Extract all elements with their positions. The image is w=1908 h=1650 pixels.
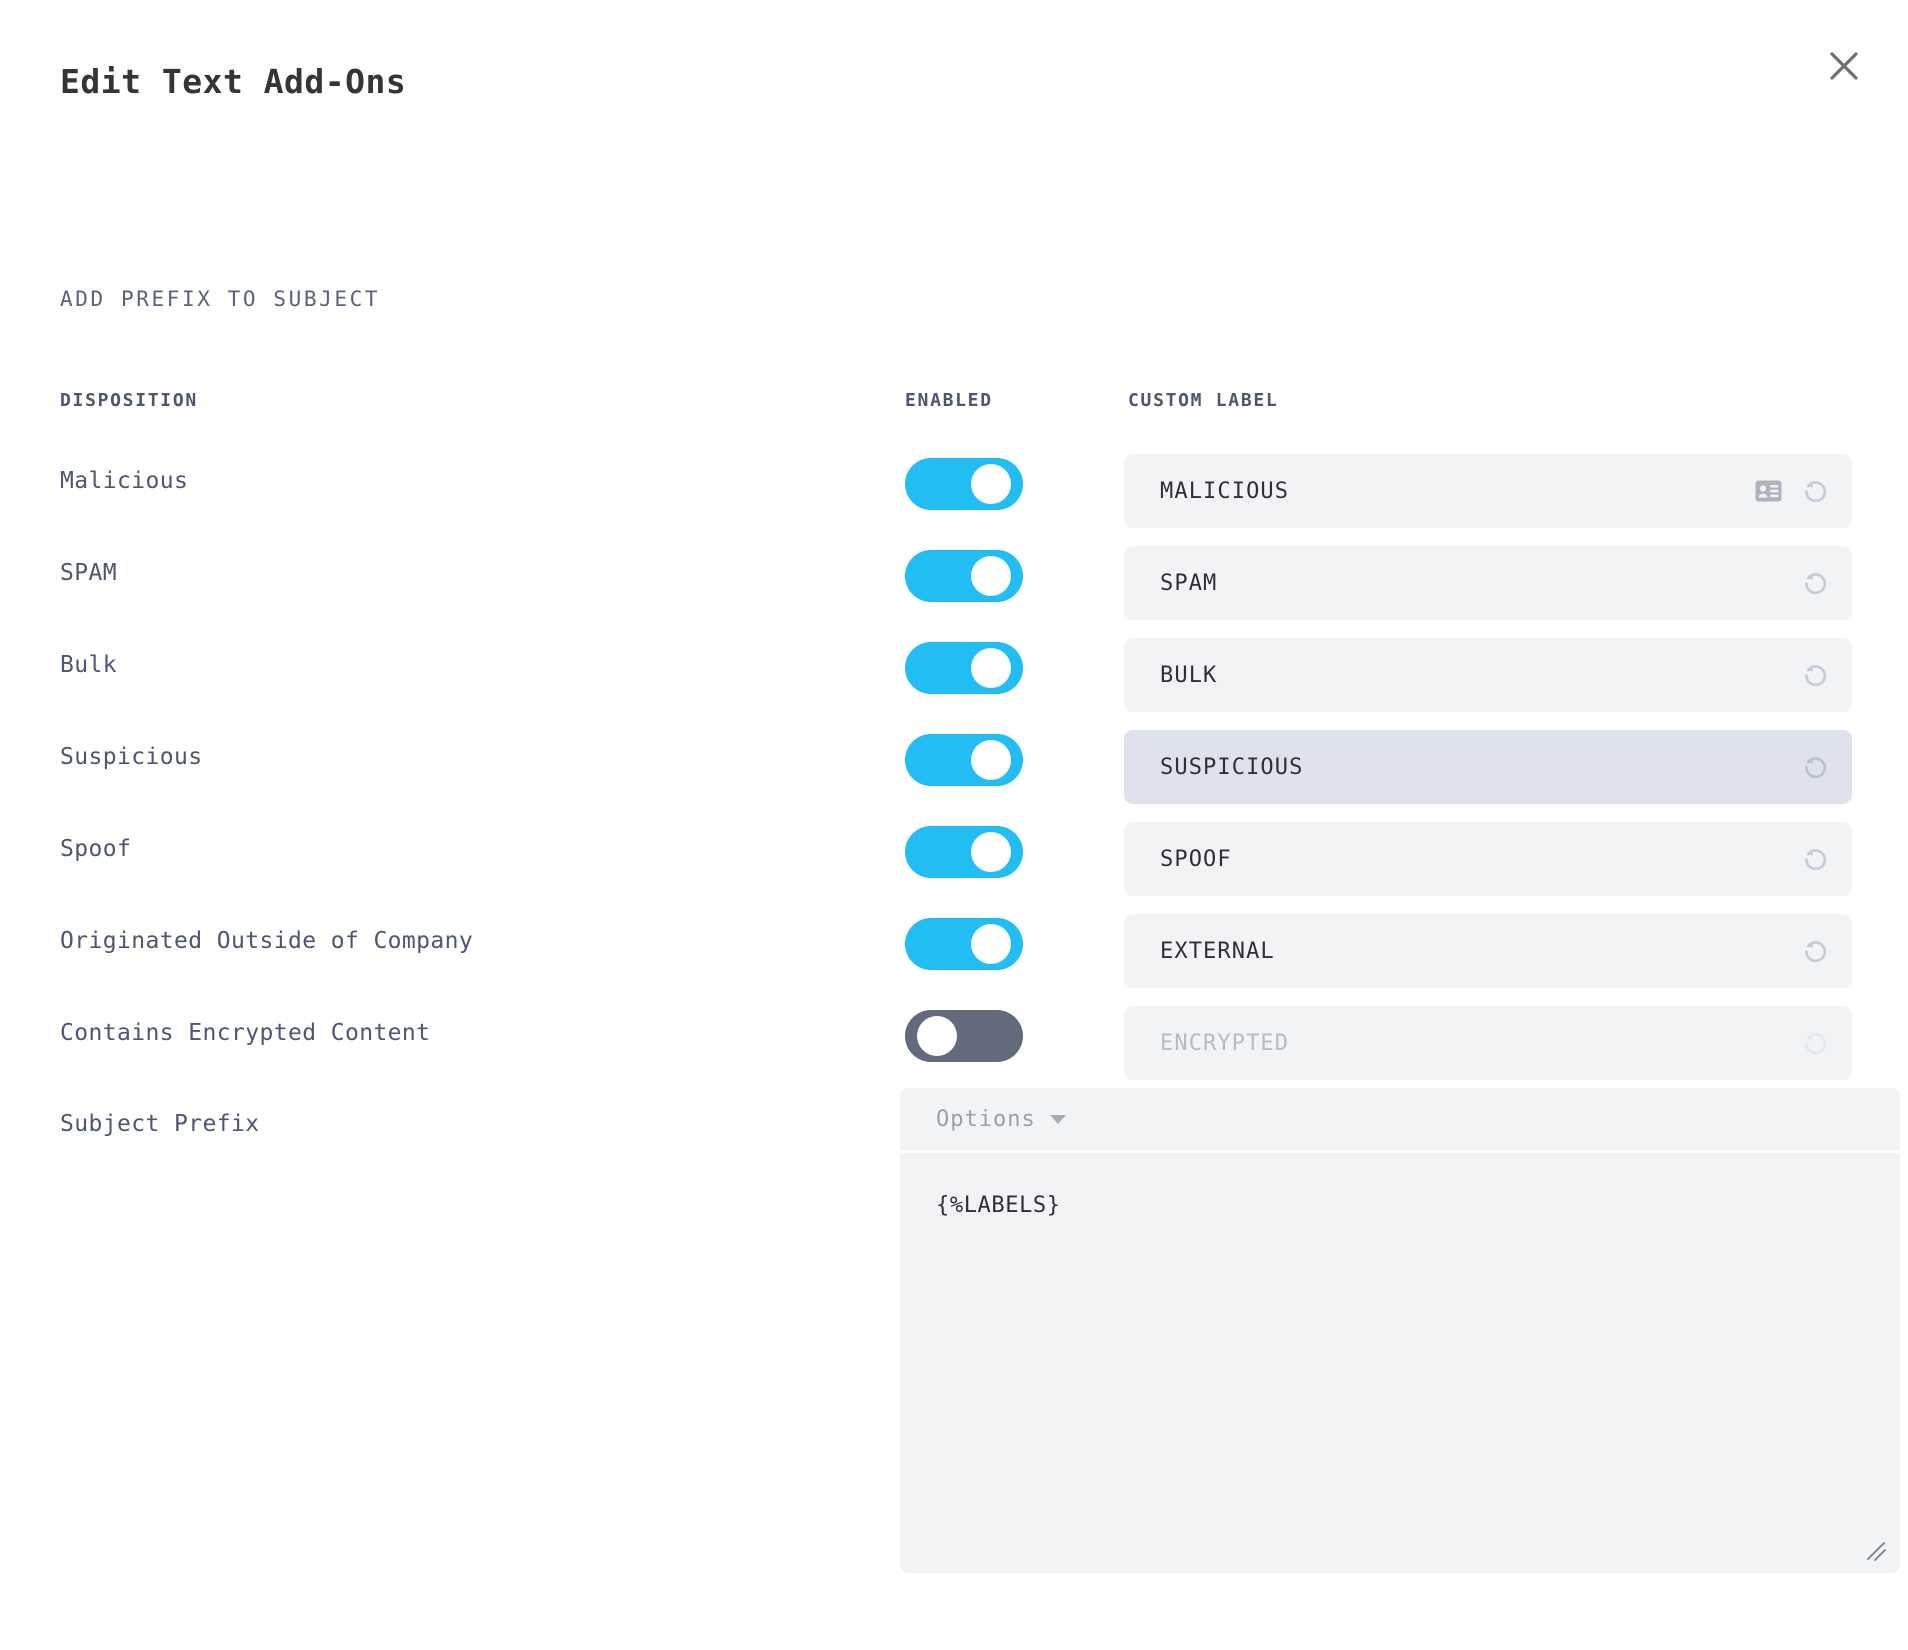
toggle-knob [971,832,1011,872]
page-title: Edit Text Add-Ons [60,62,406,101]
reset-icon[interactable] [1800,660,1830,690]
custom-label-input-encrypted[interactable]: ENCRYPTED [1124,1006,1852,1080]
table-header-row: DISPOSITION ENABLED CUSTOM LABEL [0,390,1908,446]
reset-icon[interactable] [1800,568,1830,598]
enabled-toggle-encrypted[interactable] [905,1010,1023,1062]
custom-label-input-spoof[interactable]: SPOOF [1124,822,1852,896]
enabled-toggle-suspicious[interactable] [905,734,1023,786]
id-card-icon[interactable] [1755,480,1782,502]
custom-label-value: EXTERNAL [1160,939,1800,964]
reset-icon[interactable] [1800,752,1830,782]
disposition-table: DISPOSITION ENABLED CUSTOM LABEL Malicio… [0,390,1908,1090]
enabled-toggle-spam[interactable] [905,550,1023,602]
custom-label-value: BULK [1160,663,1800,688]
resize-handle-icon[interactable] [1862,1537,1888,1563]
toggle-knob [971,648,1011,688]
custom-label-value: MALICIOUS [1160,479,1755,504]
section-label: ADD PREFIX TO SUBJECT [60,287,380,311]
toggle-knob [971,464,1011,504]
toggle-knob [971,924,1011,964]
disposition-label: Malicious [60,468,188,494]
options-dropdown[interactable]: Options [900,1088,1900,1150]
custom-label-input-bulk[interactable]: BULK [1124,638,1852,712]
disposition-label: Spoof [60,836,131,862]
table-row: Contains Encrypted Content ENCRYPTED [0,998,1908,1090]
column-header-disposition: DISPOSITION [60,390,198,411]
enabled-toggle-bulk[interactable] [905,642,1023,694]
disposition-label: Bulk [60,652,117,678]
disposition-label: SPAM [60,560,117,586]
custom-label-value: ENCRYPTED [1160,1031,1800,1056]
reset-icon[interactable] [1800,936,1830,966]
close-button[interactable] [1818,40,1870,92]
custom-label-value: SPOOF [1160,847,1800,872]
enabled-toggle-malicious[interactable] [905,458,1023,510]
custom-label-value: SUSPICIOUS [1160,755,1800,780]
custom-label-input-external[interactable]: EXTERNAL [1124,914,1852,988]
column-header-custom-label: CUSTOM LABEL [1128,390,1278,411]
custom-label-input-malicious[interactable]: MALICIOUS [1124,454,1852,528]
table-row: SPAM SPAM [0,538,1908,630]
reset-icon[interactable] [1800,844,1830,874]
subject-prefix-textarea[interactable]: {%LABELS} [900,1153,1900,1573]
subject-prefix-value: {%LABELS} [936,1193,1900,1218]
chevron-down-icon [1050,1115,1066,1124]
options-dropdown-label: Options [936,1107,1036,1132]
disposition-label: Suspicious [60,744,202,770]
reset-icon[interactable] [1800,1028,1830,1058]
table-row: Originated Outside of Company EXTERNAL [0,906,1908,998]
enabled-toggle-external[interactable] [905,918,1023,970]
edit-text-addons-dialog: Edit Text Add-Ons ADD PREFIX TO SUBJECT … [0,0,1908,1650]
disposition-label: Contains Encrypted Content [60,1020,430,1046]
column-header-enabled: ENABLED [905,390,993,411]
toggle-knob [917,1016,957,1056]
enabled-toggle-spoof[interactable] [905,826,1023,878]
custom-label-input-spam[interactable]: SPAM [1124,546,1852,620]
close-icon [1827,49,1861,83]
custom-label-value: SPAM [1160,571,1800,596]
custom-label-input-suspicious[interactable]: SUSPICIOUS [1124,730,1852,804]
table-row: Bulk BULK [0,630,1908,722]
table-row: Spoof SPOOF [0,814,1908,906]
table-row: Suspicious SUSPICIOUS [0,722,1908,814]
toggle-knob [971,556,1011,596]
table-row: Malicious MALICIOUS [0,446,1908,538]
toggle-knob [971,740,1011,780]
subject-prefix-label: Subject Prefix [60,1111,259,1137]
reset-icon[interactable] [1800,476,1830,506]
disposition-label: Originated Outside of Company [60,928,473,954]
